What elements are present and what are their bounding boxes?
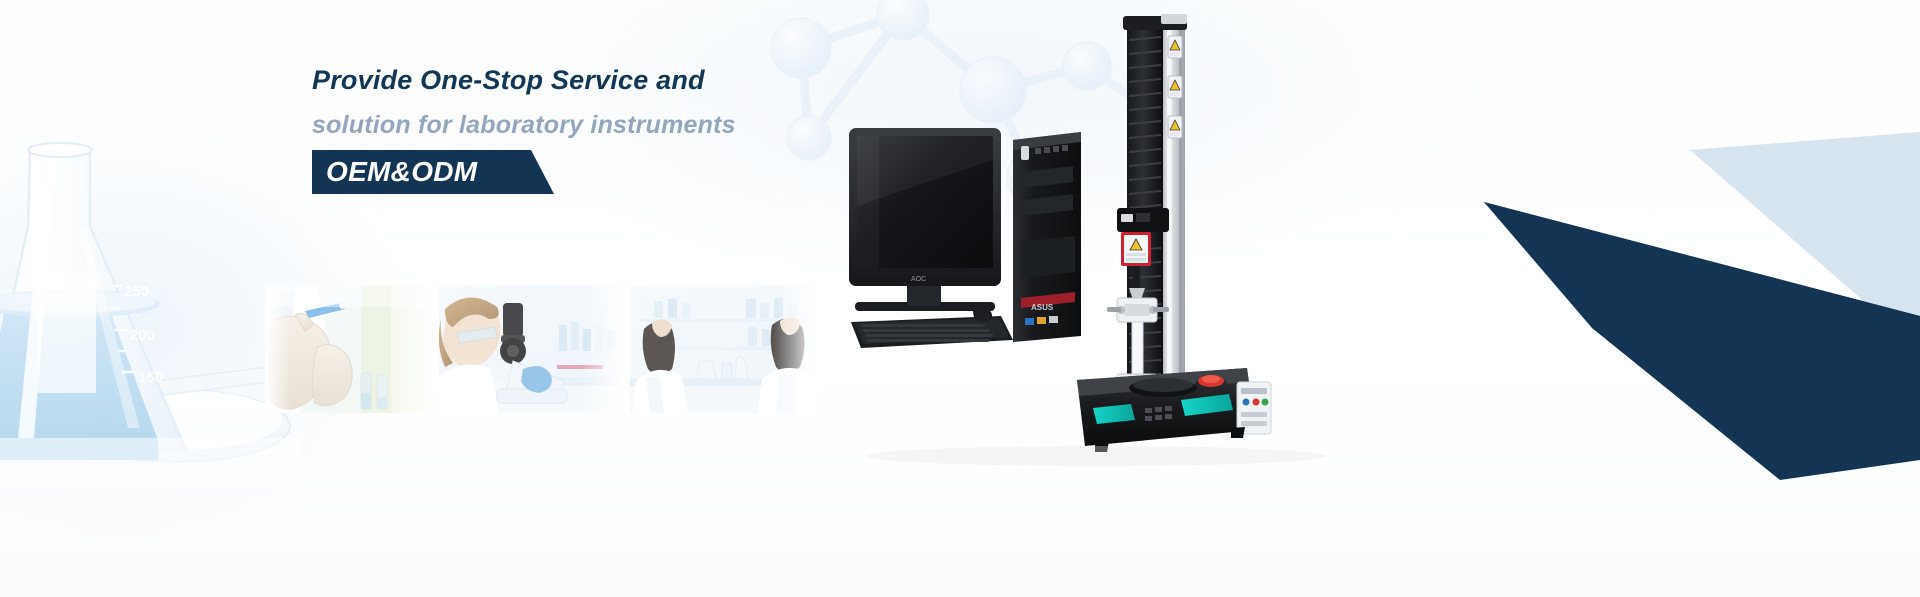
badge-label: OEM&ODM [326, 156, 477, 188]
oem-odm-badge: OEM&ODM [312, 150, 554, 196]
lab-photo-strip [265, 285, 819, 413]
svg-text:AOC: AOC [911, 276, 926, 283]
flask-grad-label-150: 150 [138, 369, 163, 386]
computer-tower: ASUS [1013, 132, 1081, 342]
flask-grad-label-200: 200 [130, 327, 155, 344]
thumb-microscope-researcher [439, 285, 626, 413]
desktop-monitor: AOC [849, 128, 1001, 311]
thumb1-left-fade [265, 285, 291, 413]
thumb-pipetting-test-tubes [265, 285, 435, 413]
thumb1-right-fade [389, 285, 435, 413]
flask-grad-label-250: 250 [124, 283, 149, 300]
thumb-laboratory-team [630, 285, 819, 413]
svg-text:ASUS: ASUS [1031, 303, 1054, 312]
thumb2-right-fade [580, 285, 626, 413]
hero-banner: 250 200 150 mL Provide One-Stop Service … [0, 0, 1920, 597]
thumb3-right-fade [773, 285, 819, 413]
decorative-shapes [1180, 120, 1920, 480]
